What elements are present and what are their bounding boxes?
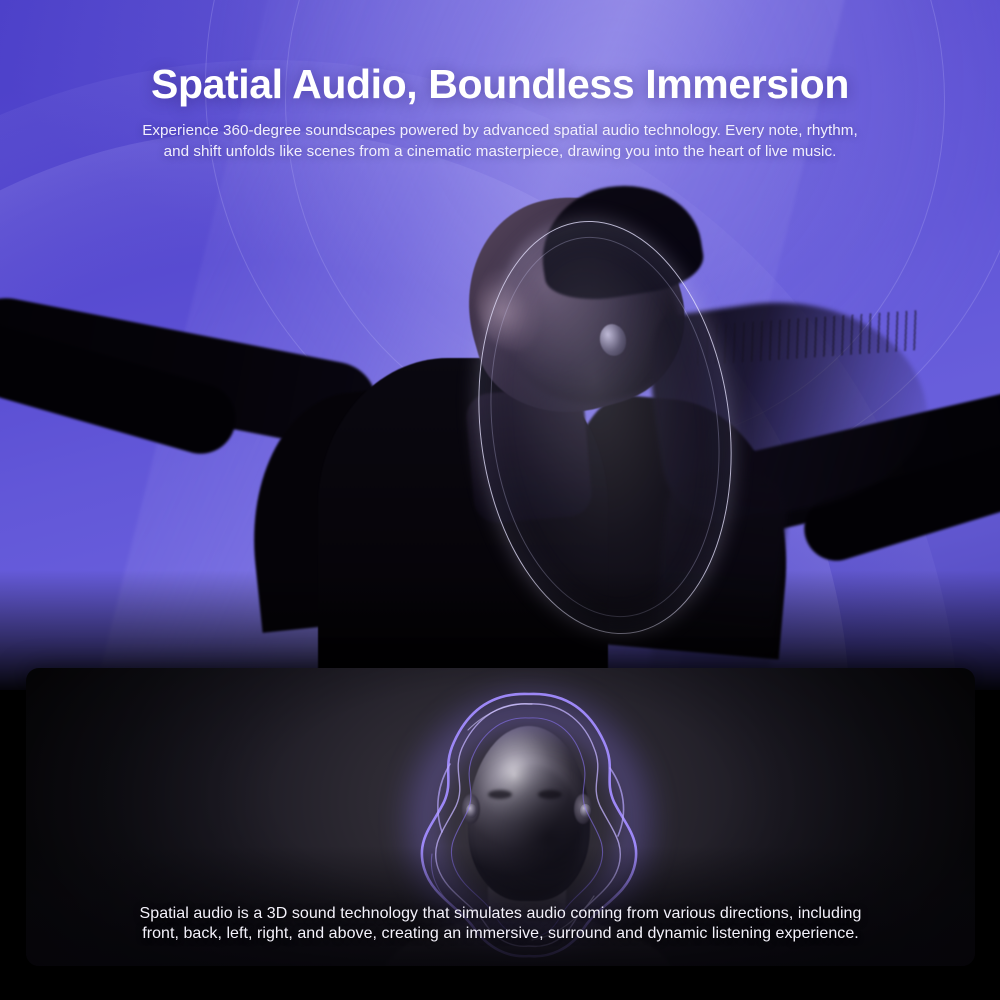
torso-silhouette [318, 358, 608, 690]
hair-falling [649, 464, 790, 685]
earbud-right-icon [580, 804, 591, 818]
neck [465, 385, 594, 525]
face-highlight [465, 260, 550, 359]
hero-subtitle-line-1: Experience 360-degree soundscapes powere… [0, 120, 1000, 141]
halo-arc-large [0, 130, 850, 690]
right-forearm-silhouette [796, 431, 1000, 568]
head-profile [442, 171, 705, 436]
inset-caption: Spatial audio is a 3D sound technology t… [26, 904, 975, 944]
left-shoulder [239, 381, 482, 633]
cg-head-shadow [478, 764, 582, 899]
inset-caption-line-2: front, back, left, right, and above, cre… [26, 924, 975, 944]
bottom-black-strip [0, 966, 1000, 1000]
left-arm-silhouette [0, 291, 384, 456]
hero-subtitle-line-2: and shift unfolds like scenes from a cin… [0, 141, 1000, 162]
cg-eye-left [488, 790, 512, 799]
hero-subtitle: Experience 360-degree soundscapes powere… [0, 120, 1000, 162]
earbud-left-icon [466, 804, 477, 818]
inset-caption-line-1: Spatial audio is a 3D sound technology t… [26, 904, 975, 924]
hair-top [532, 174, 707, 308]
right-shoulder [550, 390, 801, 659]
page-title: Spatial Audio, Boundless Immersion [0, 60, 1000, 108]
right-arm-silhouette [636, 384, 1000, 558]
left-forearm-silhouette [0, 312, 244, 462]
spatial-audio-ring-inner [470, 224, 741, 631]
hair-flowing [642, 282, 939, 528]
cg-eye-right [538, 790, 562, 799]
hair-strands [689, 310, 921, 366]
hero-banner: Spatial Audio, Boundless Immersion Exper… [0, 0, 1000, 690]
promo-page: Spatial Audio, Boundless Immersion Exper… [0, 0, 1000, 1000]
inset-panel: Spatial audio is a 3D sound technology t… [26, 668, 975, 966]
earbud-icon [597, 322, 629, 359]
hero-copy: Spatial Audio, Boundless Immersion Exper… [0, 60, 1000, 162]
spatial-audio-ring-overlay [456, 206, 755, 648]
face-shading [480, 196, 696, 423]
